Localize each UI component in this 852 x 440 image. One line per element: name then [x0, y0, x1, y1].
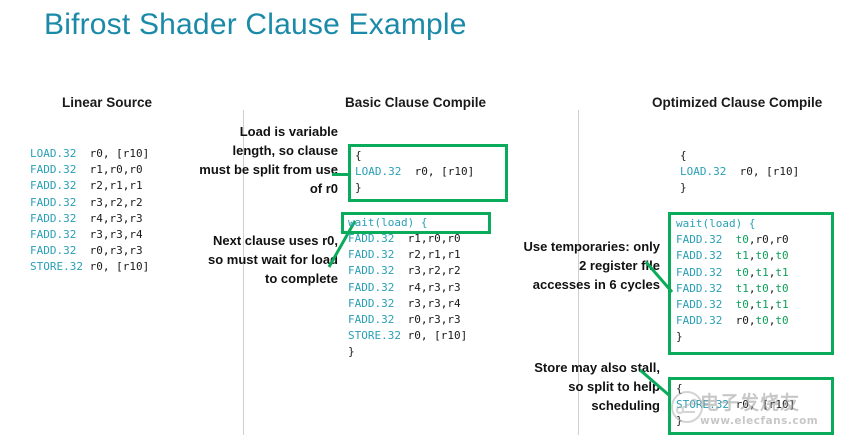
annotation-store-may-stall: Store may also stall, so split to help s…	[518, 358, 660, 415]
code-block-optimized-clause-3: { STORE.32 r0, [r10] }	[676, 381, 795, 430]
column-heading-optimized-clause: Optimized Clause Compile	[652, 95, 822, 110]
page-title: Bifrost Shader Clause Example	[44, 8, 467, 42]
code-block-basic-clause-2-body: FADD.32 r1,r0,r0 FADD.32 r2,r1,r1 FADD.3…	[348, 231, 467, 361]
slide-canvas: Bifrost Shader Clause Example Linear Sou…	[0, 0, 852, 440]
code-block-basic-clause-1: { LOAD.32 r0, [r10] }	[355, 148, 474, 197]
annotation-next-clause-waits: Next clause uses r0, so must wait for lo…	[198, 231, 338, 288]
annotation-use-temporaries: Use temporaries: only 2 register file ac…	[518, 237, 660, 294]
code-block-optimized-clause-2: wait(load) { FADD.32 t0,r0,r0 FADD.32 t1…	[676, 216, 789, 346]
code-block-basic-clause-2-header: wait(load) {	[348, 215, 427, 231]
code-block-linear-source: LOAD.32 r0, [r10] FADD.32 r1,r0,r0 FADD.…	[30, 146, 149, 276]
column-heading-linear-source: Linear Source	[62, 95, 152, 110]
column-heading-basic-clause: Basic Clause Compile	[345, 95, 486, 110]
annotation-load-variable-length: Load is variable length, so clause must …	[198, 122, 338, 198]
code-block-optimized-clause-1: { LOAD.32 r0, [r10] }	[680, 148, 799, 197]
